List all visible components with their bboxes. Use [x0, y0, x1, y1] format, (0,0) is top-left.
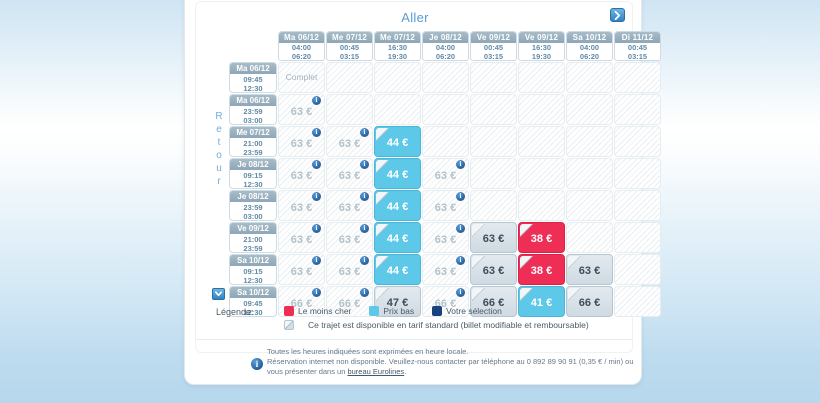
row-header-chip: Ve 09/1221:0023:59: [229, 222, 277, 253]
fare-cell-std[interactable]: 63 €: [566, 254, 613, 285]
note-text-after: .: [404, 367, 406, 376]
fare-cell-plain[interactable]: 63 €i: [278, 254, 325, 285]
fare-cell-low[interactable]: 44 €: [374, 222, 421, 253]
info-icon[interactable]: i: [312, 288, 321, 297]
fare-cell-r3-c1[interactable]: 63 €i: [326, 158, 373, 189]
legend-standard-row: Ce trajet est disponible en tarif standa…: [284, 320, 589, 330]
fare-cell-r1-c4: [470, 94, 517, 125]
column-header-times: 04:0006:20: [279, 43, 324, 61]
fare-cell-r0-c7: [614, 62, 661, 93]
fare-price-label: 63 €: [327, 266, 372, 278]
legend-swatch-cyan-icon: [369, 306, 379, 316]
fare-cell-plain[interactable]: 63 €i: [278, 190, 325, 221]
fare-cell-empty: [614, 126, 661, 157]
fare-cell-r3-c5: [518, 158, 565, 189]
fare-price-label: 63 €: [327, 234, 372, 246]
info-icon: i: [251, 358, 263, 370]
fare-cell-empty: [470, 158, 517, 189]
legend-item-navy: Votre sélection: [432, 306, 502, 316]
chevron-down-icon: [215, 291, 222, 297]
column-header-times: 16:3019:30: [375, 43, 420, 61]
column-header-1: Me 07/1200:4503:15: [326, 31, 373, 61]
fare-price-label: 38 €: [519, 233, 564, 245]
fare-cell-r4-c5: [518, 190, 565, 221]
fare-cell-r6-c1[interactable]: 63 €i: [326, 254, 373, 285]
row-header-times: 21:0023:59: [230, 138, 276, 157]
fare-price-label: 63 €: [279, 170, 324, 182]
fare-cell-cheap[interactable]: 38 €: [518, 222, 565, 253]
fare-cell-empty: [470, 62, 517, 93]
fare-cell-r2-c4: [470, 126, 517, 157]
fare-cell-plain[interactable]: 63 €i: [278, 222, 325, 253]
fare-cell-empty: [566, 222, 613, 253]
column-header-times: 04:0006:20: [423, 43, 468, 61]
legend: Légende: Le moins cherPrix basVotre séle…: [204, 304, 628, 338]
row-header-2: Me 07/1221:0023:59: [229, 126, 277, 157]
fare-price-label: 63 €: [327, 138, 372, 150]
info-icon[interactable]: i: [360, 224, 369, 233]
fare-price-label: 63 €: [423, 170, 468, 182]
fare-cell-empty: [422, 126, 469, 157]
fare-cell-r6-c2[interactable]: 44 €: [374, 254, 421, 285]
fare-cell-r5-c6: [566, 222, 613, 253]
fare-price-label: 44 €: [375, 137, 420, 149]
fare-cell-r3-c3[interactable]: 63 €i: [422, 158, 469, 189]
fare-price-label: 63 €: [327, 170, 372, 182]
fare-cell-r3-c4: [470, 158, 517, 189]
column-header-chip: Ve 09/1200:4503:15: [470, 31, 517, 61]
fare-cell-empty: [566, 94, 613, 125]
footer-note: Toutes les heures indiquées sont exprimé…: [195, 339, 633, 381]
fare-cell-empty: [470, 190, 517, 221]
fare-cell-plain[interactable]: 63 €i: [326, 254, 373, 285]
fare-cell-r1-c2: [374, 94, 421, 125]
fare-cell-empty: [566, 190, 613, 221]
results-panel-inner: Aller Retour Ma 06/1204:0006:20Me 07/120…: [195, 1, 633, 353]
fare-price-label: 44 €: [375, 201, 420, 213]
retour-axis-label: Retour: [213, 110, 225, 188]
column-header-6: Sa 10/1204:0006:20: [566, 31, 613, 61]
legend-item-label: Prix bas: [383, 306, 414, 316]
fare-cell-r4-c3[interactable]: 63 €i: [422, 190, 469, 221]
fare-cell-empty: [518, 94, 565, 125]
retour-axis-letter: R: [213, 110, 225, 123]
column-header-4: Ve 09/1200:4503:15: [470, 31, 517, 61]
column-header-times: 00:4503:15: [471, 43, 516, 61]
info-icon[interactable]: i: [312, 224, 321, 233]
fare-cell-r5-c5[interactable]: 38 €: [518, 222, 565, 253]
next-dates-button[interactable]: [610, 8, 625, 22]
fare-price-label: 63 €: [423, 202, 468, 214]
fare-cell-empty: [566, 62, 613, 93]
fare-price-label: 63 €: [471, 265, 516, 277]
fare-cell-r4-c1[interactable]: 63 €i: [326, 190, 373, 221]
fare-price-label: 38 €: [519, 265, 564, 277]
fare-cell-r2-c7: [614, 126, 661, 157]
fare-cell-r1-c6: [566, 94, 613, 125]
fare-cell-plain[interactable]: 63 €i: [422, 254, 469, 285]
info-icon[interactable]: i: [456, 160, 465, 169]
column-header-times: 04:0006:20: [567, 43, 612, 61]
retour-axis-letter: u: [213, 162, 225, 175]
legend-swatch-red-icon: [284, 306, 294, 316]
row-header-chip: Ma 06/1223:5903:00: [229, 94, 277, 125]
legend-title: Légende:: [216, 307, 254, 317]
column-header-date: Me 07/12: [327, 32, 372, 43]
table-row: Sa 10/1209:1512:3063 €i63 €i44 €63 €i63 …: [229, 254, 661, 285]
fare-cell-r1-c1: [326, 94, 373, 125]
info-icon[interactable]: i: [312, 96, 321, 105]
legend-item-red: Le moins cher: [284, 306, 351, 316]
info-icon[interactable]: i: [360, 288, 369, 297]
fare-price-label: 63 €: [279, 202, 324, 214]
info-icon[interactable]: i: [360, 256, 369, 265]
column-header-times: 00:4503:15: [615, 43, 660, 61]
fare-price-label: 63 €: [279, 106, 324, 118]
fare-price-label: 44 €: [375, 169, 420, 181]
retour-axis-letter: t: [213, 136, 225, 149]
column-header-2: Me 07/1216:3019:30: [374, 31, 421, 61]
fare-cell-empty: [422, 94, 469, 125]
fare-cell-r3-c2[interactable]: 44 €: [374, 158, 421, 189]
fare-cell-empty: [614, 62, 661, 93]
fare-cell-plain[interactable]: 63 €i: [326, 158, 373, 189]
row-header-date: Sa 10/12: [230, 255, 276, 266]
legend-item-label: Le moins cher: [298, 306, 351, 316]
row-header-chip: Je 08/1223:5903:00: [229, 190, 277, 221]
row-header-0: Ma 06/1209:4512:30: [229, 62, 277, 93]
table-row: Je 08/1209:1512:3063 €i63 €i44 €63 €i: [229, 158, 661, 189]
fare-price-label: 63 €: [327, 202, 372, 214]
fare-cell-r6-c0[interactable]: 63 €i: [278, 254, 325, 285]
info-icon[interactable]: i: [456, 192, 465, 201]
column-header-0: Ma 06/1204:0006:20: [278, 31, 325, 61]
row-header-times: 23:5903:00: [230, 202, 276, 221]
info-icon[interactable]: i: [360, 160, 369, 169]
fare-cell-plain[interactable]: 63 €i: [278, 126, 325, 157]
fare-cell-empty: [614, 94, 661, 125]
fare-cell-empty: [518, 126, 565, 157]
row-header-times: 23:5903:00: [230, 106, 276, 125]
fare-cell-r1-c3: [422, 94, 469, 125]
fare-cell-r5-c3[interactable]: 63 €i: [422, 222, 469, 253]
fare-cell-r4-c2[interactable]: 44 €: [374, 190, 421, 221]
row-header-date: Me 07/12: [230, 127, 276, 138]
fare-cell-std[interactable]: 63 €: [470, 222, 517, 253]
row-header-3: Je 08/1209:1512:30: [229, 158, 277, 189]
retour-axis-letter: o: [213, 149, 225, 162]
column-header-chip: Di 11/1200:4503:15: [614, 31, 661, 61]
bureau-eurolines-link[interactable]: bureau Eurolines: [347, 367, 404, 376]
fare-cell-r4-c0[interactable]: 63 €i: [278, 190, 325, 221]
info-icon[interactable]: i: [312, 256, 321, 265]
row-header-chip: Me 07/1221:0023:59: [229, 126, 277, 157]
title-bar: Aller: [196, 10, 634, 26]
fare-cell-r2-c5: [518, 126, 565, 157]
legend-swatch-row: Le moins cherPrix basVotre sélection: [284, 306, 514, 316]
fare-cell-empty: [326, 62, 373, 93]
fare-cell-plain[interactable]: 63 €i: [278, 158, 325, 189]
column-header-7: Di 11/1200:4503:15: [614, 31, 661, 61]
column-header-date: Ve 09/12: [519, 32, 564, 43]
fare-cell-r3-c0[interactable]: 63 €i: [278, 158, 325, 189]
row-header-date: Sa 10/12: [230, 287, 276, 298]
fare-cell-complet: Complet: [278, 62, 325, 93]
fare-price-label: 63 €: [279, 138, 324, 150]
row-header-times: 09:1512:30: [230, 170, 276, 189]
column-header-date: Ve 09/12: [471, 32, 516, 43]
info-icon[interactable]: i: [360, 192, 369, 201]
fare-cell-r4-c4: [470, 190, 517, 221]
fare-cell-cheap[interactable]: 38 €: [518, 254, 565, 285]
table-row: Je 08/1223:5903:0063 €i63 €i44 €63 €i: [229, 190, 661, 221]
retour-axis-letter: e: [213, 123, 225, 136]
fare-cell-empty: [518, 190, 565, 221]
row-header-times: 09:4512:30: [230, 74, 276, 93]
fare-cell-r1-c7: [614, 94, 661, 125]
fare-cell-plain[interactable]: 63 €i: [326, 222, 373, 253]
fare-cell-r6-c4[interactable]: 63 €: [470, 254, 517, 285]
fare-price-label: 63 €: [279, 266, 324, 278]
fare-cell-r2-c3: [422, 126, 469, 157]
fare-cell-plain[interactable]: 63 €i: [422, 222, 469, 253]
fare-cell-empty: [614, 254, 661, 285]
info-icon[interactable]: i: [312, 128, 321, 137]
fare-cell-low[interactable]: 44 €: [374, 190, 421, 221]
fare-cell-empty: [470, 126, 517, 157]
tarif-standard-icon: [284, 320, 294, 330]
fare-cell-empty: [374, 94, 421, 125]
row-header-date: Ma 06/12: [230, 63, 276, 74]
column-header-date: Sa 10/12: [567, 32, 612, 43]
row-header-times: 09:1512:30: [230, 266, 276, 285]
fare-cell-empty: [422, 62, 469, 93]
fare-cell-r0-c5: [518, 62, 565, 93]
table-row: Ma 06/1223:5903:0063 €i: [229, 94, 661, 125]
fare-cell-r5-c4[interactable]: 63 €: [470, 222, 517, 253]
row-header-date: Je 08/12: [230, 159, 276, 170]
column-header-times: 16:3019:30: [519, 43, 564, 61]
info-icon[interactable]: i: [312, 192, 321, 201]
info-icon[interactable]: i: [456, 256, 465, 265]
fare-cell-r0-c2: [374, 62, 421, 93]
fare-cell-r6-c5[interactable]: 38 €: [518, 254, 565, 285]
fare-cell-empty: [518, 158, 565, 189]
info-icon[interactable]: i: [456, 288, 465, 297]
fare-cell-r2-c2[interactable]: 44 €: [374, 126, 421, 157]
note-text-before: Réservation internet non disponible. Veu…: [267, 357, 634, 376]
legend-item-cyan: Prix bas: [369, 306, 414, 316]
fare-cell-empty: [374, 62, 421, 93]
fare-cell-low[interactable]: 44 €: [374, 254, 421, 285]
fare-price-label: 63 €: [471, 233, 516, 245]
fare-cell-plain[interactable]: 63 €i: [278, 94, 325, 125]
local-time-note: Toutes les heures indiquées sont exprimé…: [267, 347, 468, 356]
row-header-date: Ve 09/12: [230, 223, 276, 234]
row-header-chip: Ma 06/1209:4512:30: [229, 62, 277, 93]
chevron-right-icon: [614, 11, 621, 20]
column-header-times: 00:4503:15: [327, 43, 372, 61]
fare-cell-r6-c3[interactable]: 63 €i: [422, 254, 469, 285]
column-header-chip: Sa 10/1204:0006:20: [566, 31, 613, 61]
fare-cell-r4-c7: [614, 190, 661, 221]
row-header-5: Ve 09/1221:0023:59: [229, 222, 277, 253]
info-icon[interactable]: i: [312, 160, 321, 169]
fare-cell-empty: [518, 62, 565, 93]
fare-cell-r6-c6[interactable]: 63 €: [566, 254, 613, 285]
info-icon[interactable]: i: [360, 128, 369, 137]
fare-cell-r0-c6: [566, 62, 613, 93]
info-icon[interactable]: i: [456, 224, 465, 233]
matrix-body: Ma 06/1209:4512:30CompletMa 06/1223:5903…: [229, 62, 661, 317]
page-title: Aller: [196, 10, 634, 25]
fare-cell-r0-c1: [326, 62, 373, 93]
fare-cell-empty: [566, 158, 613, 189]
column-header-chip: Me 07/1200:4503:15: [326, 31, 373, 61]
row-header-date: Ma 06/12: [230, 95, 276, 106]
column-header-chip: Ma 06/1204:0006:20: [278, 31, 325, 61]
row-header-chip: Sa 10/1209:1512:30: [229, 254, 277, 285]
fare-cell-plain[interactable]: 63 €i: [422, 190, 469, 221]
column-header-chip: Ve 09/1216:3019:30: [518, 31, 565, 61]
legend-item-label: Votre sélection: [446, 306, 502, 316]
legend-swatch-navy-icon: [432, 306, 442, 316]
fare-cell-r4-c6: [566, 190, 613, 221]
fare-cell-plain[interactable]: 63 €i: [326, 190, 373, 221]
fare-price-label: 63 €: [279, 234, 324, 246]
fare-price-label: 44 €: [375, 265, 420, 277]
column-header-date: Ma 06/12: [279, 32, 324, 43]
fare-cell-empty: [566, 126, 613, 157]
fare-cell-r3-c7: [614, 158, 661, 189]
legend-standard-note: Ce trajet est disponible en tarif standa…: [308, 320, 589, 330]
row-header-4: Je 08/1223:5903:00: [229, 190, 277, 221]
fare-price-label: 63 €: [567, 265, 612, 277]
column-header-chip: Me 07/1216:3019:30: [374, 31, 421, 61]
fare-cell-empty: [470, 94, 517, 125]
fare-matrix: Ma 06/1204:0006:20Me 07/1200:4503:15Me 0…: [228, 30, 662, 318]
fare-cell-r0-c4: [470, 62, 517, 93]
fare-cell-empty: [614, 222, 661, 253]
fare-price-label: Complet: [279, 72, 324, 82]
fare-cell-r6-c7: [614, 254, 661, 285]
table-row: Me 07/1221:0023:5963 €i63 €i44 €: [229, 126, 661, 157]
fare-cell-r2-c0[interactable]: 63 €i: [278, 126, 325, 157]
column-header-date: Di 11/12: [615, 32, 660, 43]
fare-cell-plain[interactable]: 63 €i: [326, 126, 373, 157]
column-header-date: Je 08/12: [423, 32, 468, 43]
fare-cell-empty: [326, 94, 373, 125]
fare-cell-r5-c2[interactable]: 44 €: [374, 222, 421, 253]
column-header-row: Ma 06/1204:0006:20Me 07/1200:4503:15Me 0…: [229, 31, 661, 61]
retour-axis-letter: r: [213, 175, 225, 188]
next-return-dates-button[interactable]: [212, 288, 225, 300]
fare-cell-low[interactable]: 44 €: [374, 126, 421, 157]
fare-cell-low[interactable]: 44 €: [374, 158, 421, 189]
fare-cell-r3-c6: [566, 158, 613, 189]
column-header-5: Ve 09/1216:3019:30: [518, 31, 565, 61]
column-header-date: Me 07/12: [375, 32, 420, 43]
results-panel: Aller Retour Ma 06/1204:0006:20Me 07/120…: [184, 0, 642, 385]
fare-cell-r5-c7: [614, 222, 661, 253]
fare-price-label: 44 €: [375, 233, 420, 245]
row-header-date: Je 08/12: [230, 191, 276, 202]
fare-price-label: 63 €: [423, 234, 468, 246]
fare-cell-r5-c0[interactable]: 63 €i: [278, 222, 325, 253]
matrix-corner: [229, 31, 277, 61]
row-header-times: 21:0023:59: [230, 234, 276, 253]
fare-cell-r0-c3: [422, 62, 469, 93]
fare-price-label: 63 €: [423, 266, 468, 278]
booking-unavailable-note: Réservation internet non disponible. Veu…: [267, 357, 639, 376]
fare-cell-empty: [614, 190, 661, 221]
fare-cell-r0-c0: Complet: [278, 62, 325, 93]
column-header-3: Je 08/1204:0006:20: [422, 31, 469, 61]
row-header-1: Ma 06/1223:5903:00: [229, 94, 277, 125]
row-header-chip: Je 08/1209:1512:30: [229, 158, 277, 189]
fare-cell-r1-c5: [518, 94, 565, 125]
schedule-grid: Retour Ma 06/1204:0006:20Me 07/1200:4503…: [204, 30, 628, 298]
table-row: Ve 09/1221:0023:5963 €i63 €i44 €63 €i63 …: [229, 222, 661, 253]
row-header-6: Sa 10/1209:1512:30: [229, 254, 277, 285]
fare-cell-r5-c1[interactable]: 63 €i: [326, 222, 373, 253]
fare-cell-empty: [614, 158, 661, 189]
fare-cell-std[interactable]: 63 €: [470, 254, 517, 285]
fare-cell-r2-c1[interactable]: 63 €i: [326, 126, 373, 157]
fare-cell-r1-c0[interactable]: 63 €i: [278, 94, 325, 125]
fare-cell-r2-c6: [566, 126, 613, 157]
table-row: Ma 06/1209:4512:30Complet: [229, 62, 661, 93]
column-header-chip: Je 08/1204:0006:20: [422, 31, 469, 61]
fare-cell-plain[interactable]: 63 €i: [422, 158, 469, 189]
